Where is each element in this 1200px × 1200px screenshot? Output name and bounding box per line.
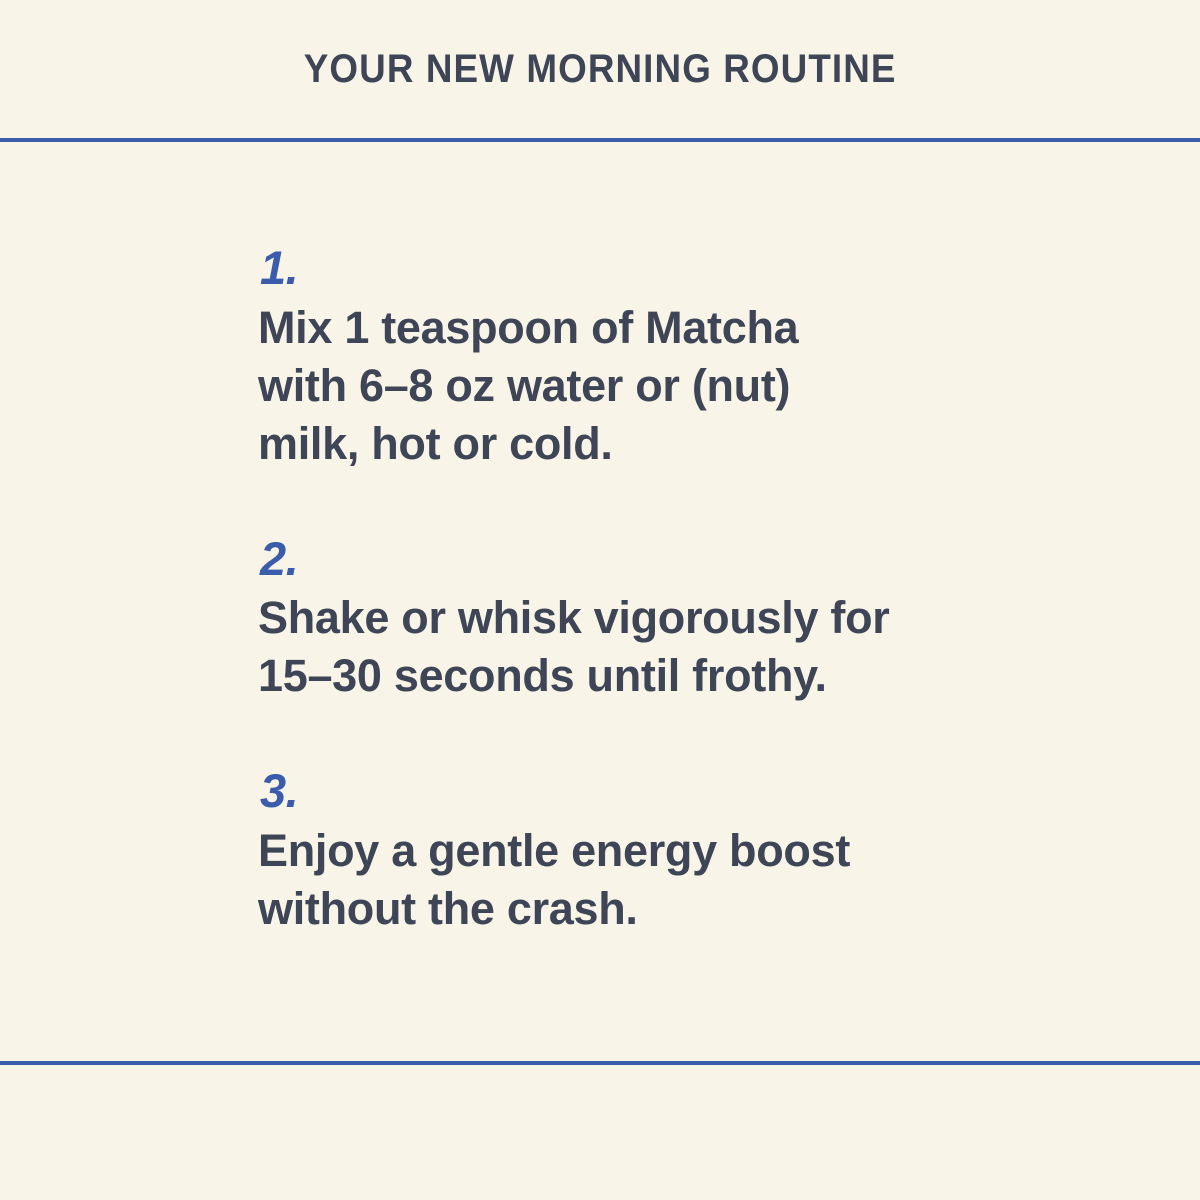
steps-list: 1. Mix 1 teaspoon of Matcha with 6–8 oz … bbox=[258, 242, 998, 938]
step-text: Shake or whisk vigorously for 15–30 seco… bbox=[258, 589, 998, 705]
page-title: YOUR NEW MORNING ROUTINE bbox=[304, 49, 897, 89]
divider-bottom bbox=[0, 1061, 1200, 1065]
morning-routine-card: YOUR NEW MORNING ROUTINE 1. Mix 1 teaspo… bbox=[0, 0, 1200, 1200]
list-item: 1. Mix 1 teaspoon of Matcha with 6–8 oz … bbox=[258, 242, 998, 473]
divider-top bbox=[0, 138, 1200, 142]
step-number: 2. bbox=[260, 533, 998, 586]
step-text: Enjoy a gentle energy boost without the … bbox=[258, 822, 998, 938]
step-number: 1. bbox=[260, 242, 998, 295]
list-item: 3. Enjoy a gentle energy boost without t… bbox=[258, 765, 998, 938]
card-header: YOUR NEW MORNING ROUTINE bbox=[0, 0, 1200, 138]
step-text: Mix 1 teaspoon of Matcha with 6–8 oz wat… bbox=[258, 299, 998, 473]
list-item: 2. Shake or whisk vigorously for 15–30 s… bbox=[258, 533, 998, 706]
step-number: 3. bbox=[260, 765, 998, 818]
